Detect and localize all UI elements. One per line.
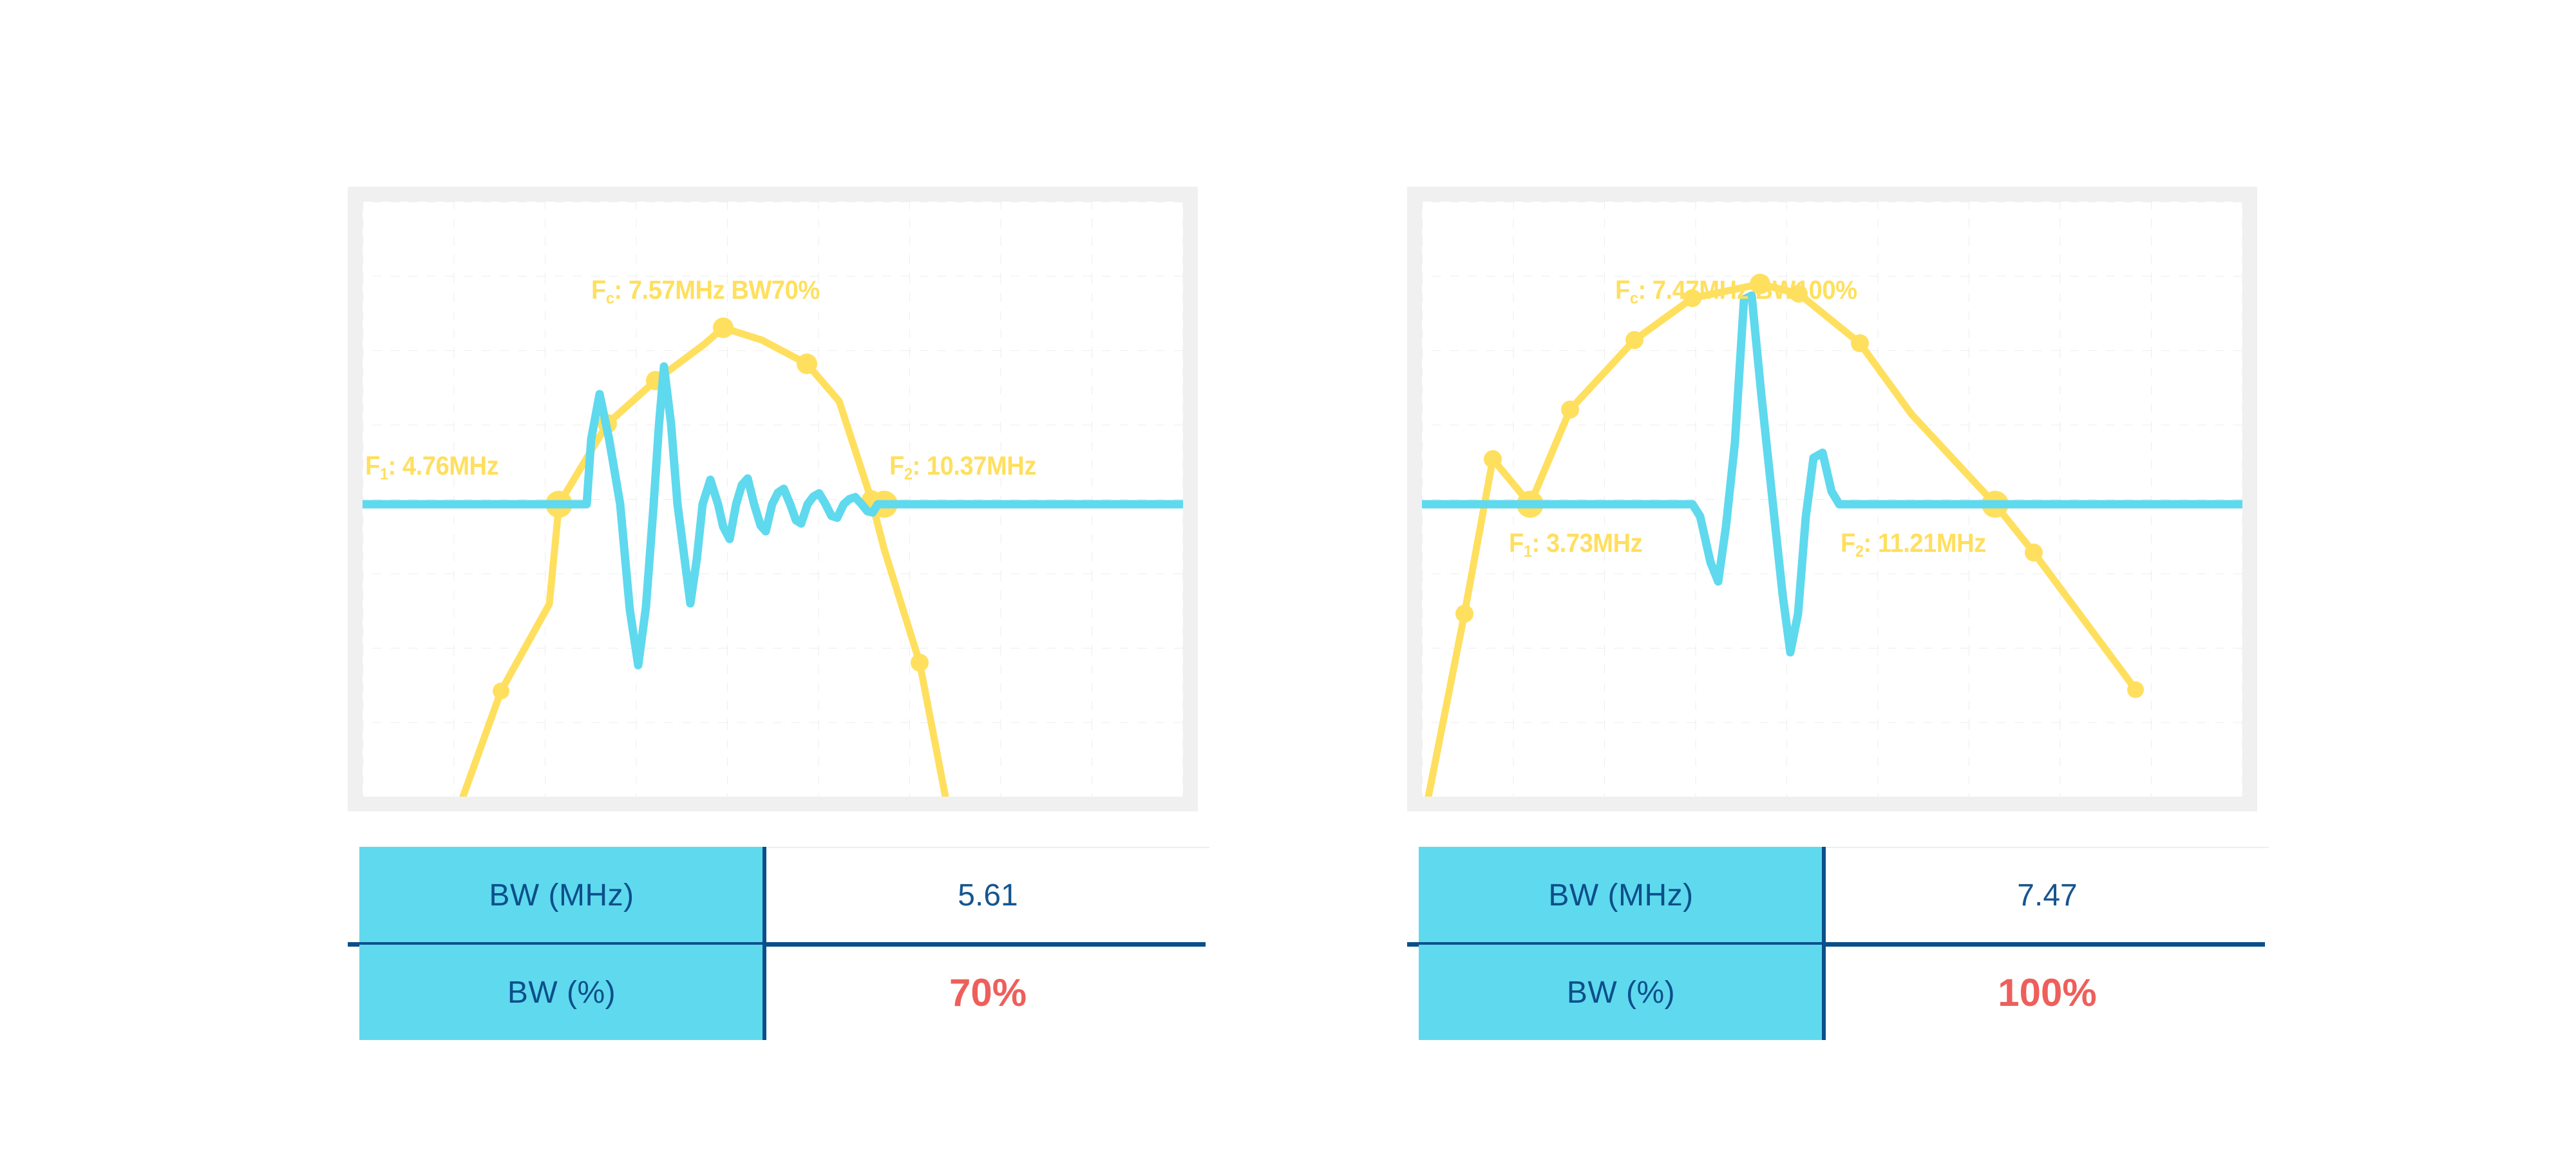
bandwidth-panel-right: Fc: 7.47MHz BW100% F1: 3.73MHz F2: 11.21… — [1381, 0, 2283, 1154]
annot-prefix: F — [365, 451, 380, 480]
annotation-f1-left: F1: 4.76MHz — [365, 453, 498, 483]
annot-text: : 10.37MHz — [913, 451, 1036, 480]
table-row-label-bw-percent: BW (%) — [1419, 945, 1823, 1040]
annot-text: : 7.47MHz BW100% — [1638, 275, 1857, 305]
annot-prefix: F — [889, 451, 904, 480]
table-row-value-bw-mhz: 7.47 — [1826, 847, 2269, 943]
plot-area-left: Fc: 7.57MHz BW70% F1: 4.76MHz F2: 10.37M… — [363, 202, 1183, 797]
value-text: 100% — [1998, 970, 2096, 1015]
annot-text: : 11.21MHz — [1864, 528, 1986, 558]
plot-frame-right: Fc: 7.47MHz BW100% F1: 3.73MHz F2: 11.21… — [1407, 187, 2257, 811]
plot-area-right: Fc: 7.47MHz BW100% F1: 3.73MHz F2: 11.21… — [1422, 202, 2242, 797]
screenshot-root: Fc: 7.57MHz BW70% F1: 4.76MHz F2: 10.37M… — [0, 0, 2576, 1154]
annot-subscript: c — [606, 290, 614, 308]
annotation-center-right: Fc: 7.47MHz BW100% — [1615, 277, 1857, 307]
table-row-value-bw-percent: 100% — [1826, 945, 2269, 1040]
plot-frame-left: Fc: 7.57MHz BW70% F1: 4.76MHz F2: 10.37M… — [348, 187, 1198, 811]
annot-subscript: 1 — [380, 466, 388, 484]
value-text: 5.61 — [958, 878, 1018, 913]
bandwidth-table-right: BW (MHz) 7.47 BW (%) 100% — [1419, 847, 2269, 1040]
table-divider-vertical — [1822, 847, 1826, 1040]
annotation-f1-right: F1: 3.73MHz — [1509, 530, 1642, 560]
label-text: BW (%) — [1567, 975, 1675, 1010]
annot-text: : 7.57MHz BW70% — [614, 275, 820, 305]
bandwidth-table-left: BW (MHz) 5.61 BW (%) 70% — [359, 847, 1209, 1040]
annot-text: : 4.76MHz — [388, 451, 499, 480]
table-row-value-bw-mhz: 5.61 — [766, 847, 1209, 943]
label-text: BW (%) — [507, 975, 616, 1010]
bandwidth-panel-left: Fc: 7.57MHz BW70% F1: 4.76MHz F2: 10.37M… — [322, 0, 1224, 1154]
annot-prefix: F — [1509, 528, 1524, 558]
annotation-center-left: Fc: 7.57MHz BW70% — [591, 277, 820, 307]
annotation-f2-left: F2: 10.37MHz — [889, 453, 1036, 483]
table-row-label-bw-percent: BW (%) — [359, 945, 764, 1040]
annot-subscript: 2 — [1855, 543, 1864, 561]
annot-subscript: 2 — [904, 466, 913, 484]
annot-subscript: c — [1630, 290, 1638, 308]
value-text: 70% — [949, 970, 1027, 1015]
value-text: 7.47 — [2017, 878, 2077, 913]
table-row-label-bw-mhz: BW (MHz) — [1419, 847, 1823, 943]
label-text: BW (MHz) — [489, 878, 634, 913]
annot-prefix: F — [1841, 528, 1855, 558]
annot-subscript: 1 — [1524, 543, 1532, 561]
annot-prefix: F — [1615, 275, 1630, 305]
table-row-label-bw-mhz: BW (MHz) — [359, 847, 764, 943]
label-text: BW (MHz) — [1548, 878, 1693, 913]
annotation-f2-right: F2: 11.21MHz — [1841, 530, 1986, 560]
annot-prefix: F — [591, 275, 606, 305]
table-row-value-bw-percent: 70% — [766, 945, 1209, 1040]
table-divider-vertical — [762, 847, 766, 1040]
annot-text: : 3.73MHz — [1532, 528, 1643, 558]
